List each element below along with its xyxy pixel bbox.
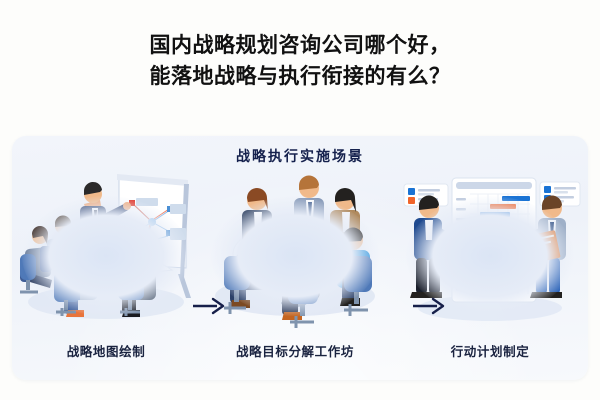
caption-step-3: 行动计划制定 (398, 341, 582, 360)
headline-line-1: 国内战略规划咨询公司哪个好， (150, 34, 451, 57)
scene-card: 战略执行实施场景 (12, 136, 588, 380)
panel-halo (22, 196, 190, 316)
caption-step-2: 战略目标分解工作坊 (202, 341, 388, 360)
step-panel-1 (18, 170, 194, 330)
page-title: 国内战略规划咨询公司哪个好， 能落地战略与执行衔接的有么？ (0, 30, 600, 92)
panel-halo (211, 196, 379, 316)
headline-line-2: 能落地战略与执行衔接的有么？ (0, 61, 600, 92)
poster-stage: 国内战略规划咨询公司哪个好， 能落地战略与执行衔接的有么？ 战略执行实施场景 (0, 0, 600, 400)
arrow-step2-to-step3 (412, 296, 446, 316)
banner-title: 战略执行实施场景 (12, 146, 588, 166)
caption-step-1: 战略地图绘制 (18, 341, 194, 360)
step-panel-2 (202, 170, 388, 330)
arrow-step1-to-step2 (192, 296, 226, 316)
step-panels (12, 170, 588, 330)
step-captions: 战略地图绘制 战略目标分解工作坊 行动计划制定 (12, 341, 588, 367)
